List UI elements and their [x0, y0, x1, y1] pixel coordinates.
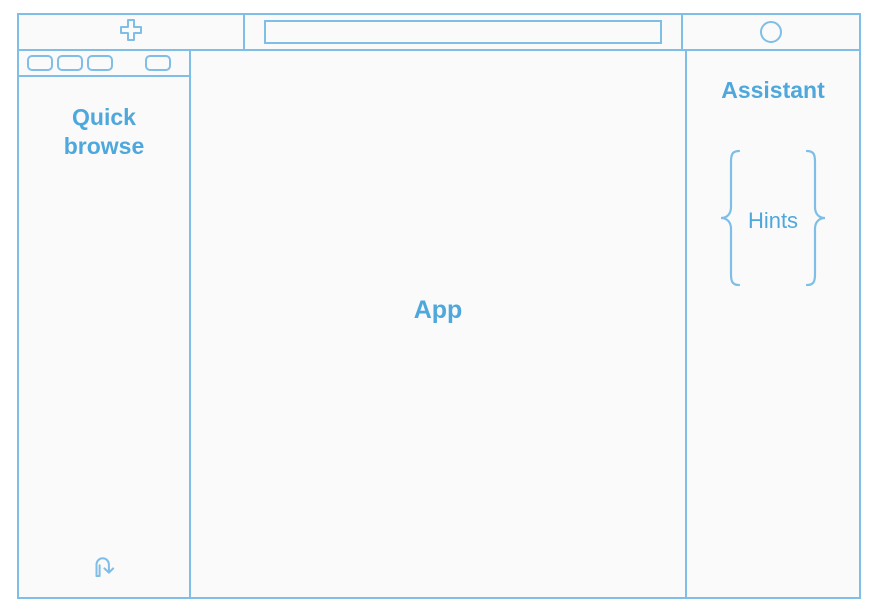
circle-avatar-icon[interactable]	[760, 21, 782, 43]
left-curly-brace-icon	[718, 148, 744, 293]
top-bar-right-section	[683, 15, 859, 49]
tab-chip-2[interactable]	[57, 55, 83, 71]
right-curly-brace-icon	[802, 148, 828, 293]
u-turn-arrow-icon[interactable]	[89, 552, 119, 587]
top-bar-left-section	[19, 15, 243, 49]
sidebar-tab-strip	[19, 51, 189, 77]
top-bar	[19, 15, 859, 51]
tab-chip-3[interactable]	[87, 55, 113, 71]
sidebar-panel: Quick browse	[19, 51, 191, 597]
top-bar-center-section	[243, 15, 683, 49]
sidebar-content: Quick browse	[19, 77, 189, 597]
browser-window-frame: Quick browse App Assistant	[17, 13, 861, 599]
hints-group: Hints	[687, 148, 859, 293]
assistant-title: Assistant	[721, 77, 825, 104]
tab-chip-4[interactable]	[145, 55, 171, 71]
sidebar-title: Quick browse	[39, 103, 169, 162]
plus-icon[interactable]	[118, 17, 144, 48]
app-content-area: App	[191, 51, 687, 597]
window-body: Quick browse App Assistant	[19, 51, 859, 597]
hints-label: Hints	[744, 208, 802, 234]
tab-chip-1[interactable]	[27, 55, 53, 71]
sidebar-footer	[19, 552, 189, 587]
address-bar-input[interactable]	[264, 20, 662, 44]
app-content-label: App	[414, 296, 463, 325]
assistant-panel: Assistant Hints	[687, 51, 859, 597]
